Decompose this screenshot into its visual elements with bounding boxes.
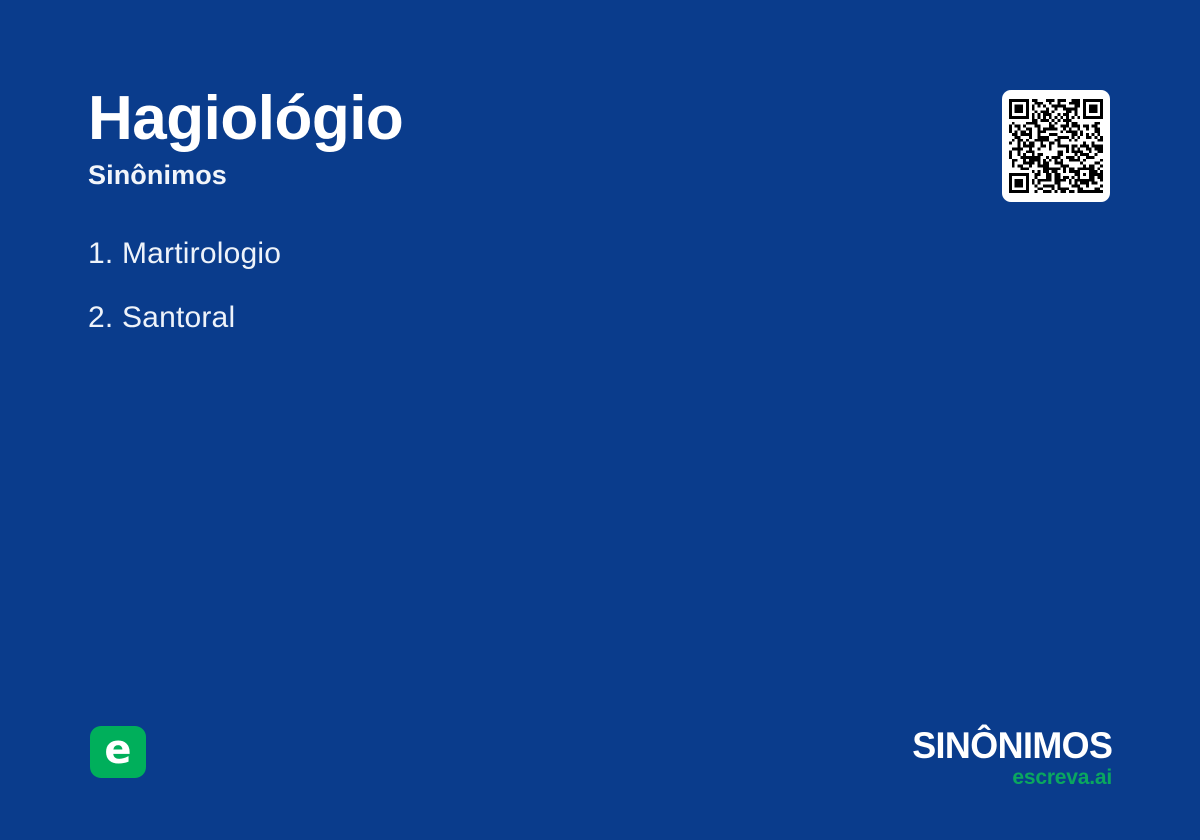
list-item: 2. Santoral	[88, 300, 948, 337]
list-item-index: 2.	[88, 301, 113, 334]
brand-lockup[interactable]: SINÔNIMOS escreva.ai	[906, 727, 1112, 788]
brand-name: SINÔNIMOS	[912, 727, 1112, 764]
synonym-card: Hagiológio Sinônimos 1. Martirologio 2. …	[0, 0, 1200, 840]
qr-code-icon	[1009, 99, 1103, 193]
header-block: Hagiológio Sinônimos	[88, 86, 888, 191]
list-item-term: Martirologio	[122, 237, 281, 270]
e-badge-glyph: e	[104, 730, 131, 770]
qr-code-panel[interactable]	[1002, 90, 1110, 202]
brand-domain: escreva.ai	[906, 767, 1112, 788]
list-item: 1. Martirologio	[88, 236, 948, 273]
section-label: Sinônimos	[88, 159, 888, 191]
synonyms-list: 1. Martirologio 2. Santoral	[88, 236, 948, 363]
list-item-term: Santoral	[122, 301, 235, 334]
page-title: Hagiológio	[88, 86, 888, 153]
list-item-index: 1.	[88, 237, 113, 270]
escreva-e-logo-icon[interactable]: e	[90, 726, 146, 778]
